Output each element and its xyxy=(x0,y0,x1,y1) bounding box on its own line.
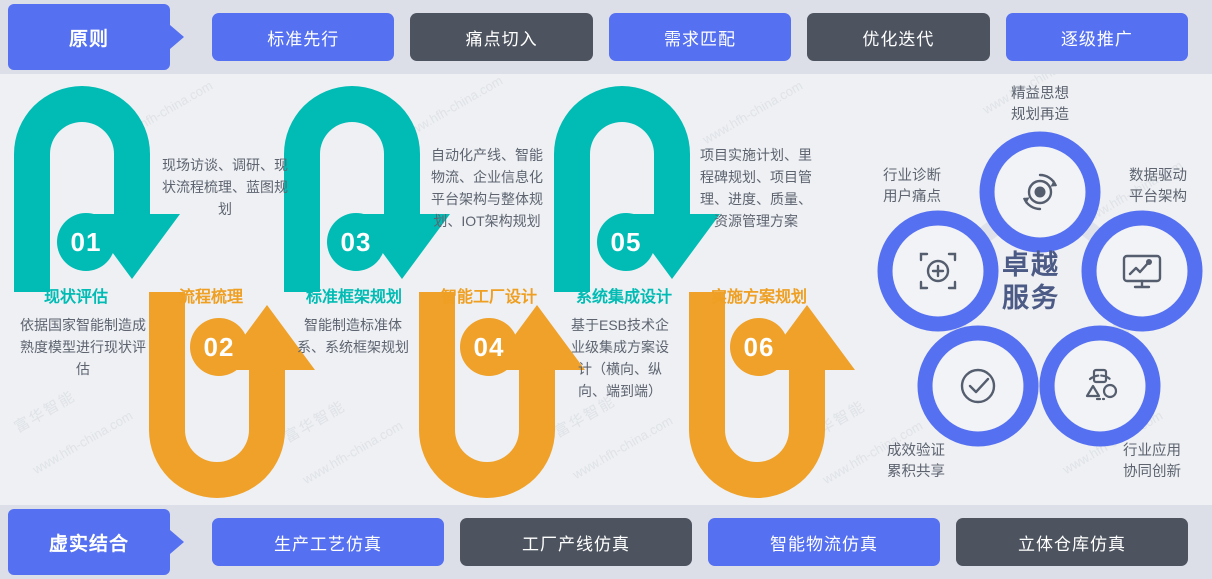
pentagon-label-top-line1: 精益思想 xyxy=(990,84,1090,105)
step-desc-02: 现场访谈、调研、现状流程梳理、蓝图规划 xyxy=(160,154,290,220)
step-number-03: 03 xyxy=(327,213,385,271)
top-bar-label: 原则 xyxy=(8,4,170,70)
step-title-04: 智能工厂设计 xyxy=(441,283,537,307)
bottom-bar-label: 虚实结合 xyxy=(8,509,170,575)
pentagon-label-bottom-right-line1: 行业应用 xyxy=(1102,441,1202,462)
top-pill-5[interactable]: 逐级推广 xyxy=(1006,13,1188,61)
step-title-01: 现状评估 xyxy=(44,283,108,307)
pentagon-center-line2: 服务 xyxy=(969,282,1093,315)
top-pill-2[interactable]: 痛点切入 xyxy=(410,13,592,61)
step-number-02: 02 xyxy=(190,318,248,376)
step-desc-03: 智能制造标准体系、系统框架规划 xyxy=(293,314,413,358)
pentagon-label-left: 行业诊断 用户痛点 xyxy=(862,166,962,208)
step-title-05: 系统集成设计 xyxy=(576,283,672,307)
step-title-02: 流程梳理 xyxy=(179,283,243,307)
step-number-04: 04 xyxy=(460,318,518,376)
step-title-03: 标准框架规划 xyxy=(306,283,402,307)
step-title-06: 实施方案规划 xyxy=(711,283,807,307)
bottom-bar-pill-row: 生产工艺仿真 工厂产线仿真 智能物流仿真 立体仓库仿真 xyxy=(196,509,1204,575)
pentagon-label-bottom-left: 成效验证 累积共享 xyxy=(866,441,966,483)
step-desc-04: 自动化产线、智能物流、企业信息化平台架构与整体规划、IOT架构规划 xyxy=(428,144,546,232)
excellence-service-diagram: 卓越 服务 精益思想 规划再造 行业诊断 用户痛点 数据驱动 平台架构 成效验证… xyxy=(850,74,1212,505)
infographic-root: 原则 标准先行 痛点切入 需求匹配 优化迭代 逐级推广 www.hfh-chin… xyxy=(0,0,1212,579)
step-number-01: 01 xyxy=(57,213,115,271)
pentagon-label-top: 精益思想 规划再造 xyxy=(990,84,1090,126)
step-number-06: 06 xyxy=(730,318,788,376)
pentagon-label-left-line2: 用户痛点 xyxy=(862,187,962,208)
top-pill-1[interactable]: 标准先行 xyxy=(212,13,394,61)
pentagon-label-right-line1: 数据驱动 xyxy=(1108,166,1208,187)
pentagon-label-bottom-right-line2: 协同创新 xyxy=(1102,462,1202,483)
pentagon-label-right-line2: 平台架构 xyxy=(1108,187,1208,208)
top-bar-arrow-icon xyxy=(170,25,184,49)
main-canvas: www.hfh-china.com 富华智能 www.hfh-china.com… xyxy=(0,74,1212,505)
bottom-pill-3[interactable]: 智能物流仿真 xyxy=(708,518,940,566)
pentagon-label-bottom-right: 行业应用 协同创新 xyxy=(1102,441,1202,483)
pentagon-center-text: 卓越 服务 xyxy=(969,249,1093,315)
pentagon-label-right: 数据驱动 平台架构 xyxy=(1108,166,1208,208)
step-desc-05: 基于ESB技术企业级集成方案设计（横向、纵向、端到端） xyxy=(565,314,675,402)
step-desc-06: 项目实施计划、里程碑规划、项目管理、进度、质量、资源管理方案 xyxy=(700,144,812,232)
bottom-simulation-bar: 虚实结合 生产工艺仿真 工厂产线仿真 智能物流仿真 立体仓库仿真 xyxy=(0,505,1212,579)
top-principle-bar: 原则 标准先行 痛点切入 需求匹配 优化迭代 逐级推广 xyxy=(0,0,1212,74)
bottom-pill-1[interactable]: 生产工艺仿真 xyxy=(212,518,444,566)
bottom-bar-arrow-icon xyxy=(170,530,184,554)
pentagon-label-bottom-left-line1: 成效验证 xyxy=(866,441,966,462)
bottom-pill-4[interactable]: 立体仓库仿真 xyxy=(956,518,1188,566)
pentagon-label-top-line2: 规划再造 xyxy=(990,105,1090,126)
step-number-05: 05 xyxy=(597,213,655,271)
top-pill-3[interactable]: 需求匹配 xyxy=(609,13,791,61)
pentagon-label-bottom-left-line2: 累积共享 xyxy=(866,462,966,483)
pentagon-label-left-line1: 行业诊断 xyxy=(862,166,962,187)
top-pill-4[interactable]: 优化迭代 xyxy=(807,13,989,61)
top-bar-pill-row: 标准先行 痛点切入 需求匹配 优化迭代 逐级推广 xyxy=(196,4,1204,70)
bottom-pill-2[interactable]: 工厂产线仿真 xyxy=(460,518,692,566)
step-desc-01: 依据国家智能制造成熟度模型进行现状评估 xyxy=(18,314,148,380)
pentagon-center-line1: 卓越 xyxy=(969,249,1093,282)
